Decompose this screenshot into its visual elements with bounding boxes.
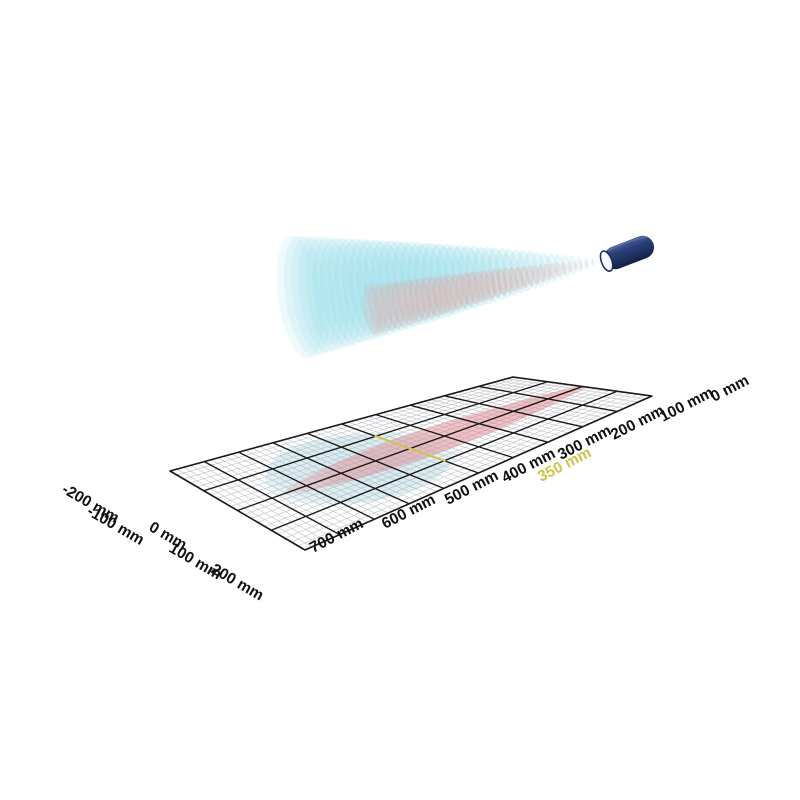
axis-tick-label: 200 mm [208,561,266,605]
ultrasound-beam-figure: 0 mm100 mm200 mm300 mm350 mm400 mm500 mm… [0,0,800,800]
beam-slice [597,260,599,263]
axis-tick-label: 0 mm [708,372,752,406]
ultrasound-transducer-probe [598,232,658,273]
beam-cone-group [270,233,601,362]
scene-canvas: 0 mm100 mm200 mm300 mm350 mm400 mm500 mm… [0,0,800,800]
axis-tick-label: 100 mm [657,384,716,425]
footprint-anchor [0,0,1,1]
